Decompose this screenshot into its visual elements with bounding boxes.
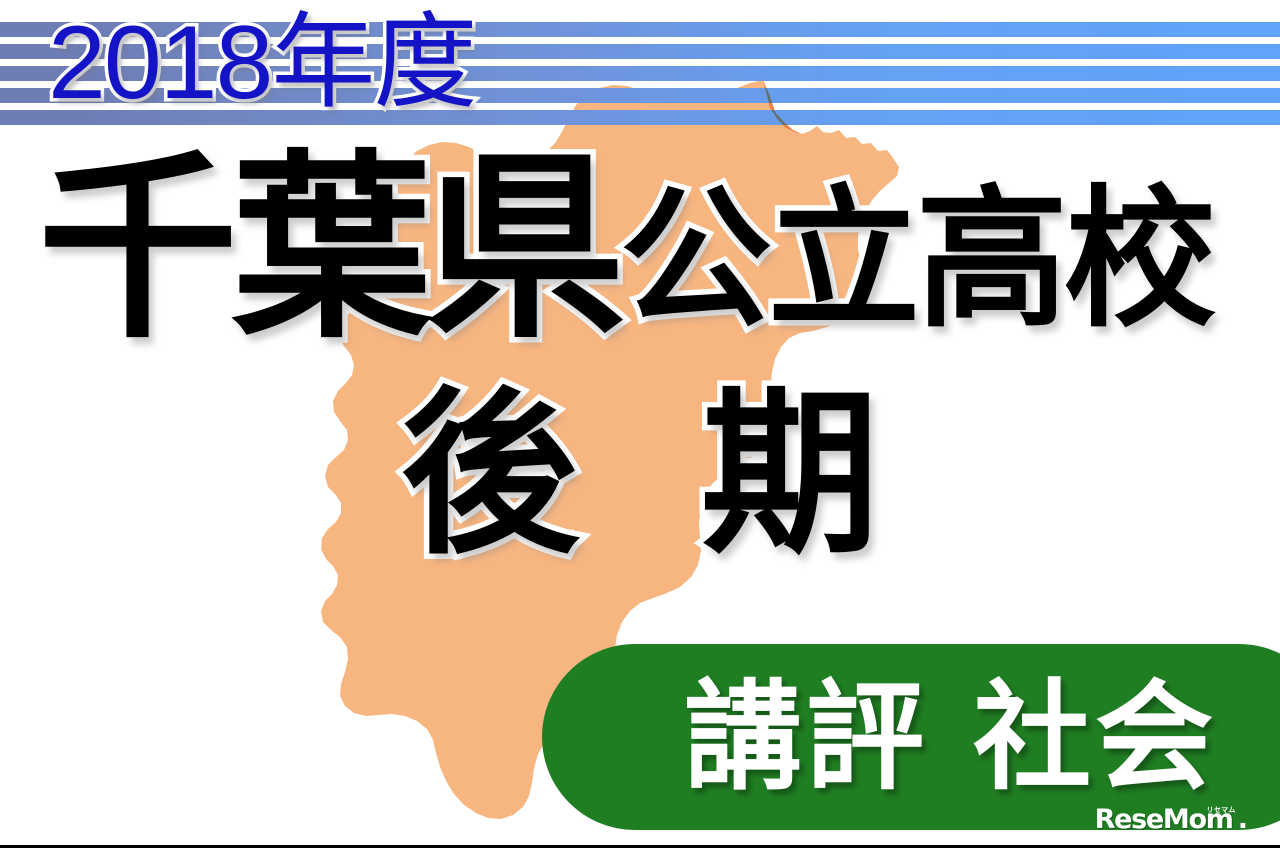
poster-canvas: 2018年度 千葉県 公立高校 後 期 講評 社会 ReseMom リセマム . xyxy=(0,0,1280,848)
resemom-logo-dot: . xyxy=(1238,806,1248,833)
subject-badge: 講評 社会 xyxy=(542,644,1280,830)
subject-badge-label: 講評 社会 xyxy=(684,678,1217,796)
resemom-logo-ruby: リセマム xyxy=(1207,807,1236,814)
year-label: 2018年度 xyxy=(48,4,475,124)
resemom-logo: ReseMom リセマム . xyxy=(1095,806,1272,833)
